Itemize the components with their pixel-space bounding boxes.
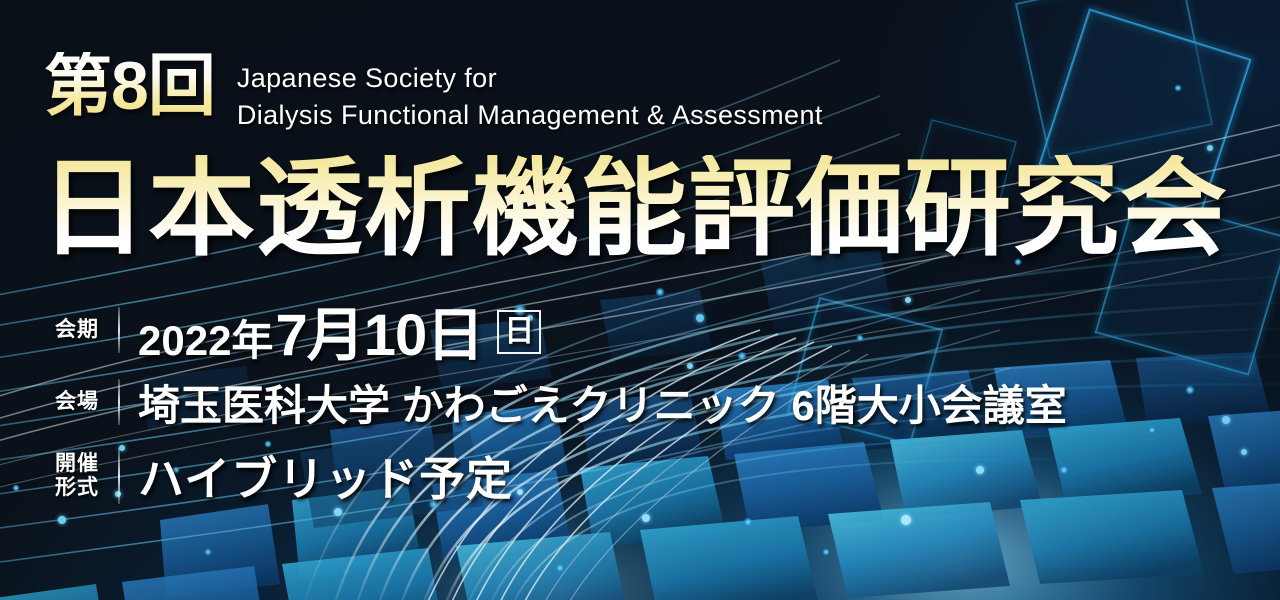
- info-row-venue: 会場 埼玉医科大学 かわごえクリニック 6階大小会議室: [40, 372, 1220, 432]
- info-label-date: 会期: [40, 318, 114, 342]
- divider-format: [118, 448, 120, 504]
- date-month-day: 7月10日: [275, 288, 483, 372]
- divider-venue: [118, 379, 120, 425]
- info-value-format: ハイブリッド予定: [138, 443, 513, 509]
- main-title: 日本透析機能評価研究会: [40, 155, 1228, 262]
- english-title-line2: Dialysis Functional Management & Assessm…: [237, 97, 823, 134]
- edition-number: 第8回: [44, 52, 215, 120]
- title-top-row: 第8回 Japanese Society for Dialysis Functi…: [44, 52, 823, 135]
- english-title: Japanese Society for Dialysis Functional…: [237, 60, 823, 135]
- info-value-venue: 埼玉医科大学 かわごえクリニック 6階大小会議室: [138, 372, 1067, 433]
- banner-content: 第8回 Japanese Society for Dialysis Functi…: [0, 0, 1280, 600]
- english-title-line1: Japanese Society for: [237, 60, 823, 97]
- info-value-date: 2022年 7月10日 日: [138, 288, 541, 372]
- event-info-block: 会期 2022年 7月10日 日 会場 埼玉医科大学 かわごえクリニック 6階大…: [40, 300, 1220, 518]
- conference-banner: 第8回 Japanese Society for Dialysis Functi…: [0, 0, 1280, 600]
- date-year: 2022年: [138, 307, 273, 368]
- info-row-format: 開催 形式 ハイブリッド予定: [40, 446, 1220, 506]
- day-of-week-badge: 日: [497, 310, 541, 354]
- info-row-date: 会期 2022年 7月10日 日: [40, 300, 1220, 360]
- divider-date: [118, 307, 120, 353]
- info-label-format: 開催 形式: [40, 452, 114, 499]
- info-label-venue: 会場: [40, 390, 114, 414]
